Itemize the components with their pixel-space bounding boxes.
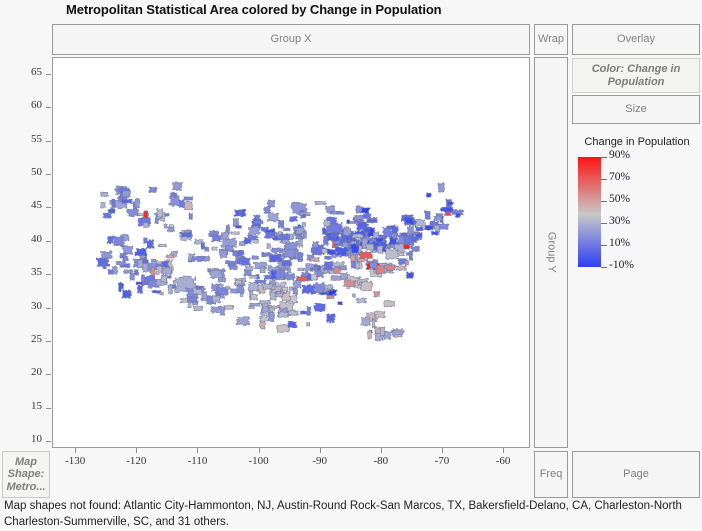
map-region[interactable]	[282, 291, 291, 301]
map-region[interactable]	[438, 183, 445, 193]
y-axis-tick-label: 25	[0, 333, 42, 345]
map-region[interactable]	[424, 211, 430, 220]
x-axis-tick-mark	[75, 448, 76, 453]
map-region[interactable]	[173, 182, 183, 191]
map-region[interactable]	[310, 268, 313, 272]
map-region[interactable]	[112, 266, 117, 275]
map-region[interactable]	[236, 317, 249, 326]
map-region[interactable]	[324, 220, 331, 227]
map-region[interactable]	[250, 303, 261, 306]
map-region[interactable]	[201, 242, 205, 249]
y-axis-tick-label: 40	[0, 233, 42, 245]
color-bar-tick-mark	[601, 157, 607, 158]
map-region[interactable]	[367, 331, 371, 340]
color-bar-tick-label: 10%	[609, 237, 630, 249]
map-region[interactable]	[374, 311, 385, 318]
map-shape-label-line1: Map	[15, 456, 37, 469]
map-region[interactable]	[415, 219, 426, 227]
map-region[interactable]	[167, 227, 175, 233]
map-region[interactable]	[237, 258, 242, 264]
map-region[interactable]	[434, 216, 443, 221]
map-region[interactable]	[415, 227, 423, 231]
map-region[interactable]	[326, 295, 334, 299]
map-region[interactable]	[313, 282, 325, 293]
map-region[interactable]	[404, 244, 410, 249]
x-axis-tick-mark	[197, 448, 198, 453]
y-axis-tick-label: 10	[0, 433, 42, 445]
map-region[interactable]	[306, 322, 310, 326]
map-region[interactable]	[315, 201, 327, 205]
color-bar-tick-mark	[601, 223, 607, 224]
map-region[interactable]	[349, 252, 360, 255]
map-region[interactable]	[424, 226, 433, 231]
map-region[interactable]	[309, 258, 319, 262]
map-region[interactable]	[155, 218, 159, 224]
map-region[interactable]	[103, 213, 112, 219]
map-region[interactable]	[341, 273, 348, 280]
map-region[interactable]	[136, 282, 143, 285]
map-region[interactable]	[267, 244, 271, 249]
drop-zone-group-x[interactable]: Group X	[52, 24, 530, 55]
y-axis-tick-mark	[46, 207, 51, 208]
color-bar-tick-label: 30%	[609, 215, 630, 227]
map-region[interactable]	[295, 227, 305, 234]
map-region[interactable]	[380, 327, 385, 337]
map-region[interactable]	[220, 250, 228, 258]
x-axis-tick-mark	[442, 448, 443, 453]
map-region[interactable]	[321, 249, 328, 254]
map-shapes	[53, 58, 529, 447]
map-region[interactable]	[207, 268, 211, 272]
map-region[interactable]	[161, 275, 168, 282]
x-axis-tick-label: -100	[237, 455, 281, 467]
map-region[interactable]	[135, 198, 140, 208]
y-axis-tick-label: 20	[0, 366, 42, 378]
map-region[interactable]	[391, 330, 404, 335]
map-region[interactable]	[287, 310, 299, 315]
map-shape-label-line2: Shape:	[8, 468, 45, 481]
map-region[interactable]	[228, 263, 235, 267]
map-region[interactable]	[385, 249, 399, 260]
color-bar-tick-mark	[601, 201, 607, 202]
map-region[interactable]	[324, 256, 332, 260]
map-region[interactable]	[143, 222, 149, 227]
map-region[interactable]	[144, 211, 149, 219]
map-region[interactable]	[101, 251, 113, 259]
map-region[interactable]	[337, 302, 342, 305]
y-axis-tick-mark	[46, 308, 51, 309]
map-region[interactable]	[169, 196, 180, 207]
map-region[interactable]	[188, 302, 191, 308]
jmp-graph-builder-window: Metropolitan Statistical Area colored by…	[0, 0, 702, 531]
map-region[interactable]	[168, 285, 172, 295]
map-region[interactable]	[373, 232, 380, 239]
y-axis-tick-label: 45	[0, 199, 42, 211]
y-axis-tick-label: 15	[0, 400, 42, 412]
map-region[interactable]	[396, 265, 407, 270]
map-region[interactable]	[245, 266, 253, 271]
map-region[interactable]	[287, 273, 295, 280]
map-region[interactable]	[202, 291, 207, 300]
group-x-label: Group X	[271, 33, 312, 46]
map-region[interactable]	[262, 284, 273, 290]
map-region[interactable]	[361, 317, 370, 326]
map-region[interactable]	[298, 238, 303, 247]
map-region[interactable]	[165, 213, 169, 216]
map-region[interactable]	[249, 276, 257, 279]
map-region[interactable]	[230, 232, 239, 235]
map-region[interactable]	[322, 228, 326, 235]
map-region[interactable]	[329, 270, 335, 274]
map-region[interactable]	[122, 191, 130, 197]
map-region[interactable]	[426, 193, 431, 197]
x-axis-tick-mark	[503, 448, 504, 453]
map-region[interactable]	[151, 259, 156, 263]
map-region[interactable]	[277, 312, 289, 318]
map-region[interactable]	[211, 235, 223, 242]
map-region[interactable]	[162, 267, 172, 275]
drop-zone-color[interactable]: Color: Change in Population	[572, 58, 700, 93]
map-region[interactable]	[287, 269, 291, 274]
map-region[interactable]	[144, 238, 148, 244]
drop-zone-page[interactable]: Page	[572, 451, 700, 498]
map-region[interactable]	[123, 270, 133, 274]
y-axis-tick-mark	[46, 408, 51, 409]
map-region[interactable]	[360, 281, 373, 291]
map-region[interactable]	[100, 202, 105, 208]
map-region[interactable]	[357, 258, 369, 261]
size-label: Size	[625, 103, 646, 116]
map-region[interactable]	[384, 300, 395, 306]
map-plot-area[interactable]	[52, 57, 530, 448]
map-region[interactable]	[241, 257, 251, 266]
map-region[interactable]	[260, 321, 266, 329]
x-axis-tick-label: -120	[114, 455, 158, 467]
map-region[interactable]	[159, 292, 163, 295]
map-region[interactable]	[444, 212, 451, 216]
map-region[interactable]	[225, 286, 230, 289]
y-axis-tick-mark	[46, 241, 51, 242]
map-region[interactable]	[356, 205, 362, 213]
map-region[interactable]	[238, 210, 242, 217]
map-region[interactable]	[193, 306, 203, 311]
map-region[interactable]	[252, 256, 259, 260]
x-axis-tick-label: -80	[359, 455, 403, 467]
color-bar-tick-label: -10%	[609, 259, 634, 271]
map-region[interactable]	[248, 282, 259, 291]
map-region[interactable]	[271, 248, 284, 253]
freq-label: Freq	[540, 468, 563, 481]
x-axis-tick-mark	[381, 448, 382, 453]
map-region[interactable]	[260, 266, 266, 273]
map-region[interactable]	[283, 228, 290, 231]
map-region[interactable]	[146, 240, 154, 249]
group-y-label: Group Y	[545, 232, 558, 273]
map-region[interactable]	[265, 230, 275, 233]
x-axis-tick-label: -110	[175, 455, 219, 467]
map-region[interactable]	[164, 224, 167, 229]
y-axis-tick-mark	[46, 141, 51, 142]
color-bar-tick-mark	[601, 179, 607, 180]
map-region[interactable]	[137, 285, 142, 293]
map-region[interactable]	[409, 251, 412, 261]
map-region[interactable]	[288, 321, 297, 328]
map-region[interactable]	[130, 273, 135, 280]
map-region[interactable]	[196, 286, 203, 290]
color-bar-tick-mark	[601, 245, 607, 246]
drop-zone-group-y[interactable]: Group Y	[534, 57, 568, 448]
map-region[interactable]	[300, 311, 308, 314]
map-region[interactable]	[235, 225, 242, 228]
map-region[interactable]	[156, 208, 163, 217]
map-region[interactable]	[122, 256, 128, 262]
y-axis-tick-label: 50	[0, 166, 42, 178]
map-region[interactable]	[225, 225, 229, 234]
map-region[interactable]	[100, 192, 108, 197]
map-region[interactable]	[302, 214, 306, 217]
drop-zone-map-shape[interactable]: Map Shape: Metro...	[2, 451, 50, 498]
map-region[interactable]	[240, 293, 243, 296]
map-region[interactable]	[284, 248, 296, 258]
y-axis-tick-mark	[46, 274, 51, 275]
map-region[interactable]	[302, 222, 306, 227]
map-region[interactable]	[330, 233, 338, 238]
map-region[interactable]	[248, 227, 260, 235]
map-region[interactable]	[282, 239, 291, 243]
map-region[interactable]	[211, 306, 220, 313]
y-axis-tick-label: 65	[0, 66, 42, 78]
map-region[interactable]	[149, 187, 157, 193]
map-region[interactable]	[212, 247, 218, 250]
map-region[interactable]	[112, 199, 116, 208]
y-axis-tick-mark	[46, 107, 51, 108]
y-axis-tick-label: 55	[0, 133, 42, 145]
map-region[interactable]	[116, 261, 126, 265]
map-region[interactable]	[298, 268, 305, 271]
x-axis-tick-mark	[259, 448, 260, 453]
map-region[interactable]	[151, 267, 156, 275]
legend-title: Change in Population	[572, 136, 702, 148]
map-region[interactable]	[373, 291, 379, 297]
map-region[interactable]	[102, 261, 106, 269]
map-region[interactable]	[406, 272, 413, 279]
drop-zone-wrap[interactable]: Wrap	[534, 24, 568, 55]
y-axis-tick-label: 60	[0, 99, 42, 111]
color-bar-tick-label: 90%	[609, 149, 630, 161]
map-region[interactable]	[282, 287, 288, 291]
map-region[interactable]	[356, 298, 366, 303]
map-region[interactable]	[372, 318, 375, 328]
map-region[interactable]	[179, 232, 192, 238]
map-region[interactable]	[352, 293, 355, 297]
map-region[interactable]	[261, 252, 270, 256]
map-region[interactable]	[405, 261, 409, 266]
overlay-label: Overlay	[617, 33, 655, 46]
wrap-label: Wrap	[538, 33, 564, 46]
map-region[interactable]	[135, 248, 147, 256]
map-region[interactable]	[326, 314, 335, 323]
map-region[interactable]	[293, 280, 302, 288]
status-message: Map shapes not found: Atlantic City-Hamm…	[4, 499, 694, 530]
x-axis-tick-mark	[136, 448, 137, 453]
color-bar-tick-label: 50%	[609, 193, 630, 205]
drop-zone-freq[interactable]: Freq	[534, 451, 568, 498]
map-region[interactable]	[282, 260, 292, 266]
map-region[interactable]	[382, 226, 392, 237]
map-region[interactable]	[314, 303, 325, 311]
page-label: Page	[623, 468, 649, 481]
color-bar-tick-mark	[601, 267, 607, 268]
x-axis-tick-mark	[320, 448, 321, 453]
map-region[interactable]	[134, 269, 139, 275]
x-axis-tick-label: -60	[481, 455, 525, 467]
map-region[interactable]	[296, 276, 308, 281]
map-region[interactable]	[269, 255, 282, 262]
map-region[interactable]	[189, 213, 193, 220]
drop-zone-size[interactable]: Size	[572, 95, 700, 124]
y-axis-tick-mark	[46, 74, 51, 75]
drop-zone-overlay[interactable]: Overlay	[572, 24, 700, 55]
map-region[interactable]	[247, 235, 258, 240]
map-region[interactable]	[121, 199, 133, 203]
map-region[interactable]	[431, 231, 439, 235]
y-axis-tick-mark	[46, 441, 51, 442]
y-axis-tick-label: 35	[0, 266, 42, 278]
map-region[interactable]	[249, 306, 255, 309]
map-shape-label-line3: Metro...	[6, 481, 45, 494]
x-axis-tick-label: -90	[298, 455, 342, 467]
map-region[interactable]	[337, 212, 345, 215]
map-region[interactable]	[342, 228, 351, 236]
map-region[interactable]	[271, 270, 276, 279]
map-region[interactable]	[232, 250, 239, 255]
map-region[interactable]	[312, 241, 319, 248]
map-region[interactable]	[184, 196, 193, 200]
map-region[interactable]	[293, 288, 298, 295]
map-region[interactable]	[268, 312, 274, 322]
map-region[interactable]	[363, 213, 371, 218]
y-axis-tick-mark	[46, 374, 51, 375]
map-region[interactable]	[278, 220, 284, 228]
map-region[interactable]	[249, 294, 257, 300]
map-region[interactable]	[314, 267, 319, 270]
map-region[interactable]	[347, 220, 350, 223]
x-axis-tick-label: -70	[420, 455, 464, 467]
map-region[interactable]	[276, 291, 281, 294]
map-region[interactable]	[166, 255, 174, 259]
y-axis-tick-mark	[46, 174, 51, 175]
map-region[interactable]	[275, 277, 285, 280]
map-region[interactable]	[114, 236, 125, 246]
map-region[interactable]	[290, 216, 298, 221]
map-region[interactable]	[218, 277, 226, 282]
map-region[interactable]	[220, 306, 225, 316]
map-region[interactable]	[298, 252, 304, 261]
page-title: Metropolitan Statistical Area colored by…	[66, 2, 442, 17]
map-region[interactable]	[267, 213, 279, 222]
map-region[interactable]	[376, 265, 385, 274]
map-region[interactable]	[366, 219, 377, 222]
map-region[interactable]	[455, 213, 460, 218]
map-region[interactable]	[415, 233, 422, 237]
y-axis-tick-mark	[46, 341, 51, 342]
map-region[interactable]	[119, 282, 122, 292]
map-region[interactable]	[184, 201, 193, 210]
map-region[interactable]	[276, 324, 289, 332]
map-region[interactable]	[107, 236, 114, 244]
map-region[interactable]	[205, 247, 209, 252]
color-bar	[578, 157, 601, 267]
color-bar-tick-label: 70%	[609, 171, 630, 183]
map-region[interactable]	[440, 207, 454, 212]
map-region[interactable]	[307, 274, 311, 281]
map-region[interactable]	[404, 217, 414, 224]
map-region[interactable]	[122, 290, 132, 299]
map-region[interactable]	[267, 305, 280, 308]
map-region[interactable]	[158, 244, 167, 247]
color-role-label: Color: Change in Population	[573, 63, 699, 88]
map-region[interactable]	[447, 202, 454, 205]
y-axis-tick-label: 30	[0, 300, 42, 312]
x-axis-tick-label: -130	[53, 455, 97, 467]
